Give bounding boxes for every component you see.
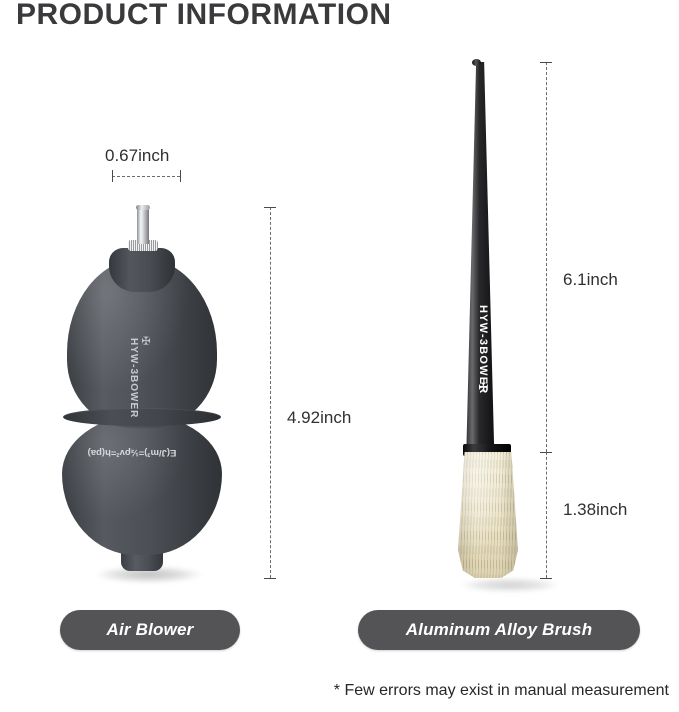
- air-blower-nozzle-tip: [136, 205, 150, 210]
- dimension-label-blower-height: 4.92inch: [287, 408, 351, 428]
- air-blower-formula-text: E(J/m³)=½ρv²=h(pa): [83, 447, 181, 458]
- air-blower-seam-ring: [63, 408, 221, 426]
- dimension-cap-bristle-length-bottom: [540, 578, 552, 579]
- dimension-label-bristle-length: 1.38inch: [563, 500, 627, 520]
- dimension-cap-brush-length-top: [540, 62, 552, 63]
- dimension-line-brush-length: [546, 62, 547, 452]
- brush-bristles: [458, 452, 518, 578]
- product-name-pill-air-blower: Air Blower: [60, 610, 240, 650]
- dimension-cap-bristle-length-top: [540, 452, 552, 453]
- dimension-cap-nozzle-width-right: [180, 170, 181, 182]
- page-title: PRODUCT INFORMATION: [16, 0, 392, 32]
- dimension-cap-nozzle-width-left: [112, 170, 113, 182]
- brush-handle: [455, 62, 519, 456]
- air-blower-neck: [109, 248, 175, 292]
- product-name-pill-aluminum-alloy-brush: Aluminum Alloy Brush: [358, 610, 640, 650]
- dimension-line-blower-height: [270, 207, 271, 578]
- dimension-line-bristle-length: [546, 452, 547, 578]
- air-blower-chrome-nozzle: [137, 208, 149, 244]
- product-name-air-blower: Air Blower: [106, 620, 193, 640]
- dimension-label-nozzle-width: 0.67inch: [105, 146, 169, 166]
- dimension-cap-blower-height-bottom: [264, 578, 276, 579]
- measurement-disclaimer: * Few errors may exist in manual measure…: [334, 682, 669, 700]
- brush-handle-top-cap: [472, 59, 481, 66]
- brush-brand-text: HYW-3BOWER: [477, 305, 489, 394]
- product-name-aluminum-alloy-brush: Aluminum Alloy Brush: [406, 620, 593, 640]
- dimension-line-nozzle-width: [112, 176, 180, 177]
- air-blower-brand-mark-icon: ✠: [139, 336, 150, 345]
- brush-brand-mark-icon: ✠: [477, 382, 489, 392]
- dimension-label-brush-length: 6.1inch: [563, 270, 618, 290]
- air-blower-lower-bulb: [62, 415, 222, 555]
- product-information-page: PRODUCT INFORMATION ✠ HYW-3BOWER E(J/m³)…: [0, 0, 679, 712]
- air-blower-brand-text: HYW-3BOWER: [128, 338, 139, 418]
- dimension-cap-blower-height-top: [264, 207, 276, 208]
- brush-drop-shadow: [462, 578, 558, 592]
